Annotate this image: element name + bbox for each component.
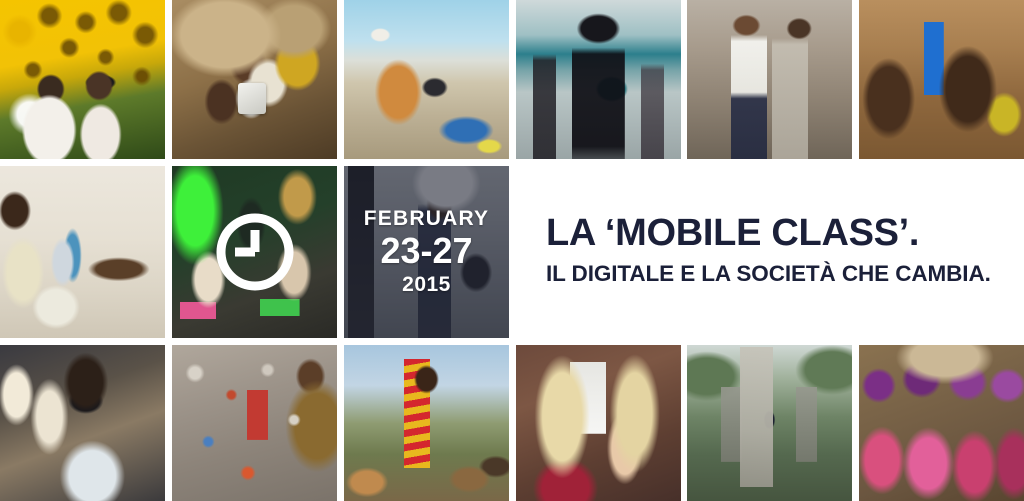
photo-image [172,345,337,501]
photo-image [0,345,165,501]
photo-tile-r1c4 [516,0,681,159]
photo-image [516,0,681,159]
photo-tile-r2c3: FEBRUARY23-272015 [344,166,509,338]
event-date-card: FEBRUARY23-272015 [344,166,509,338]
event-days: 23-27 [380,231,472,271]
photo-image [0,166,165,338]
event-month: FEBRUARY [364,207,490,230]
clock-icon [172,166,337,338]
photo-tile-r3c2 [172,345,337,501]
photo-image [516,345,681,501]
photo-tile-r3c1 [0,345,165,501]
photo-tile-r1c2 [172,0,337,159]
photo-tile-r2c2 [172,166,337,338]
photo-image [0,0,165,159]
photo-tile-r3c5 [687,345,852,501]
photo-image [687,345,852,501]
photo-tile-r3c4 [516,345,681,501]
event-year: 2015 [402,273,451,297]
photo-tile-r1c6 [859,0,1024,159]
poster-canvas: FEBRUARY23-272015 LA ‘MOBILE CLASS’. IL … [0,0,1024,501]
photo-image [687,0,852,159]
photo-tile-r3c3 [344,345,509,501]
photo-image [859,345,1024,501]
page-title: LA ‘MOBILE CLASS’. [546,213,919,253]
photo-image [172,0,337,159]
photo-tile-r1c1 [0,0,165,159]
photo-tile-r1c3 [344,0,509,159]
photo-image [344,345,509,501]
photo-tile-r3c6 [859,345,1024,501]
photo-image [859,0,1024,159]
photo-image [344,0,509,159]
headline-panel: LA ‘MOBILE CLASS’. IL DIGITALE E LA SOCI… [512,166,1024,345]
photo-tile-r2c1 [0,166,165,338]
page-subtitle: IL DIGITALE E LA SOCIETÀ CHE CAMBIA. [546,261,991,287]
photo-tile-r1c5 [687,0,852,159]
